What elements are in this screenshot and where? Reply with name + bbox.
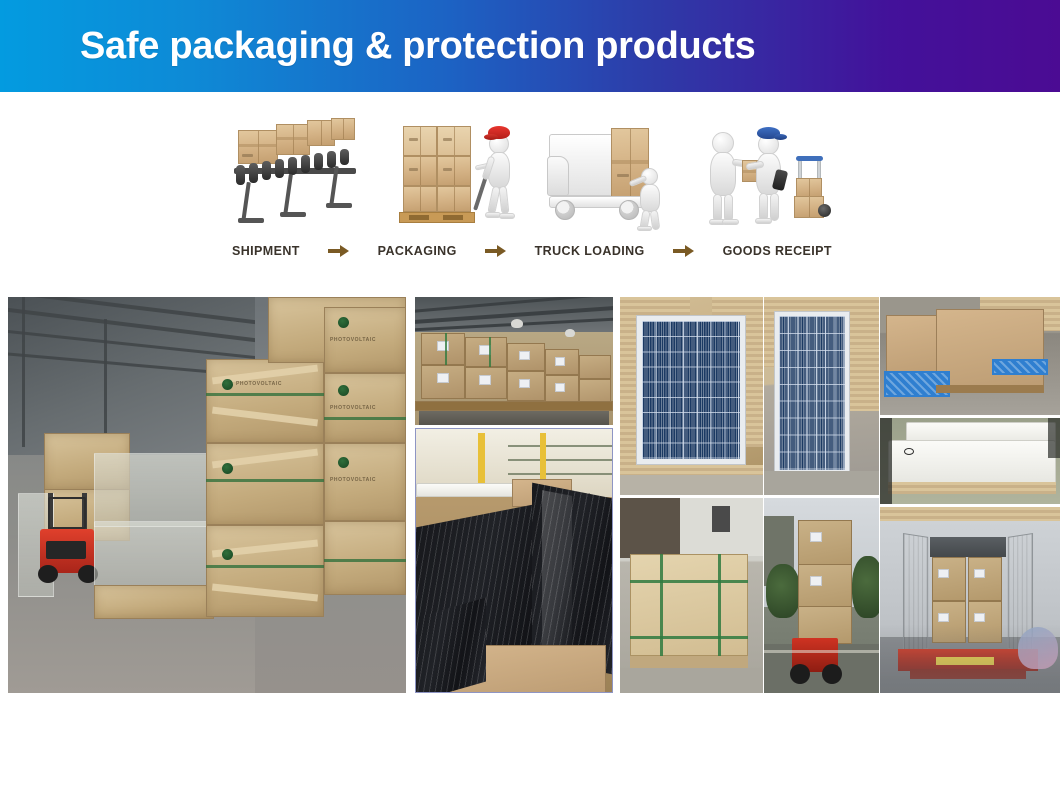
stage-label-goods-receipt: GOODS RECEIPT bbox=[723, 244, 832, 258]
photo-black-solar-panels bbox=[415, 428, 613, 693]
photo-white-panel-backsheet bbox=[880, 418, 1060, 504]
stage-label-shipment: SHIPMENT bbox=[232, 244, 300, 258]
stage-label-truck-loading: TRUCK LOADING bbox=[535, 244, 645, 258]
crate-brand-text: PHOTOVOLTAIC bbox=[330, 477, 376, 483]
photo-warehouse-crates: PHOTOVOLTAIC PHOTOVOLTAIC PHOTOVOLTAIC P… bbox=[8, 297, 406, 693]
photo-carton-on-blue-pallet bbox=[880, 297, 1060, 415]
process-label-row: SHIPMENT PACKAGING TRUCK LOADING GOODS R… bbox=[232, 244, 832, 258]
packaging-illustration bbox=[389, 116, 519, 234]
crate-brand-text: PHOTOVOLTAIC bbox=[330, 405, 376, 411]
shipment-illustration bbox=[232, 116, 362, 234]
goods-receipt-illustration bbox=[702, 116, 832, 234]
arrow-right-icon bbox=[328, 244, 350, 258]
truck-loading-illustration bbox=[545, 116, 675, 234]
stage-label-packaging: PACKAGING bbox=[378, 244, 457, 258]
slide-root: Safe packaging & protection products bbox=[0, 0, 1060, 785]
page-title: Safe packaging & protection products bbox=[80, 25, 755, 68]
slide-header-banner: Safe packaging & protection products bbox=[0, 0, 1060, 92]
photo-wooden-crate-strapped bbox=[620, 498, 763, 693]
photo-solar-panel-front-a bbox=[620, 297, 763, 495]
photo-solar-panel-front-b bbox=[764, 297, 879, 495]
crate-brand-text: PHOTOVOLTAIC bbox=[236, 381, 282, 387]
photo-container-loaded bbox=[880, 507, 1060, 693]
arrow-right-icon bbox=[673, 244, 695, 258]
logistics-process-infographic: SHIPMENT PACKAGING TRUCK LOADING GOODS R… bbox=[0, 92, 1060, 290]
packaging-photo-gallery: PHOTOVOLTAIC PHOTOVOLTAIC PHOTOVOLTAIC P… bbox=[0, 297, 1060, 693]
photo-carton-stacks bbox=[415, 297, 613, 425]
crate-brand-text: PHOTOVOLTAIC bbox=[330, 337, 376, 343]
process-illustration-row bbox=[232, 114, 832, 234]
arrow-right-icon bbox=[485, 244, 507, 258]
photo-forklift-moving-crates bbox=[764, 498, 879, 693]
